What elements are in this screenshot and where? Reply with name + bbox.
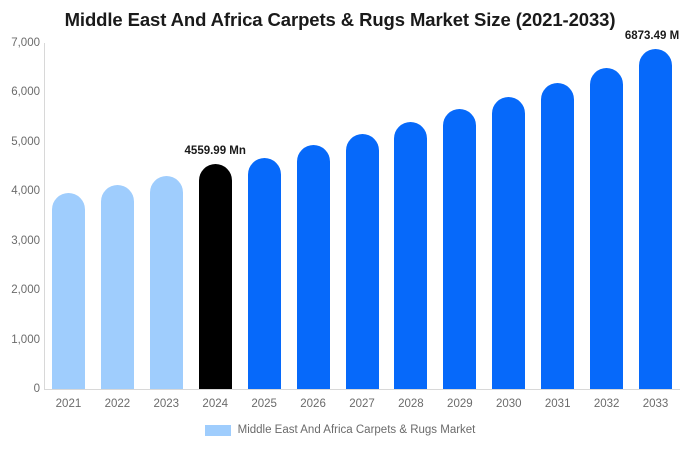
bar-2032[interactable] bbox=[590, 68, 623, 389]
legend-swatch bbox=[205, 425, 231, 436]
bar-2026[interactable] bbox=[297, 145, 330, 389]
y-axis-tick-label: 6,000 bbox=[2, 86, 40, 98]
bar-2027[interactable] bbox=[346, 134, 379, 389]
bar-2029[interactable] bbox=[443, 109, 476, 389]
legend-label: Middle East And Africa Carpets & Rugs Ma… bbox=[238, 424, 476, 436]
data-label-2024: 4559.99 Mn bbox=[185, 145, 246, 157]
y-axis-tick-label: 4,000 bbox=[2, 185, 40, 197]
bar-2021[interactable] bbox=[52, 193, 85, 389]
bar-2030[interactable] bbox=[492, 97, 525, 389]
y-axis: 7,0006,0005,0004,0003,0002,0001,0000 bbox=[0, 0, 40, 450]
chart-legend: Middle East And Africa Carpets & Rugs Ma… bbox=[0, 424, 680, 436]
y-axis-tick-label: 2,000 bbox=[2, 284, 40, 296]
bar-2023[interactable] bbox=[150, 176, 183, 389]
bar-2025[interactable] bbox=[248, 158, 281, 389]
x-axis-line bbox=[44, 389, 680, 390]
y-axis-tick-label: 7,000 bbox=[2, 37, 40, 49]
y-axis-tick-label: 1,000 bbox=[2, 334, 40, 346]
y-axis-tick-label: 3,000 bbox=[2, 235, 40, 247]
y-axis-tick-label: 5,000 bbox=[2, 136, 40, 148]
bar-2031[interactable] bbox=[541, 83, 574, 389]
chart-title: Middle East And Africa Carpets & Rugs Ma… bbox=[0, 9, 680, 31]
bar-2028[interactable] bbox=[394, 122, 427, 389]
chart-container: Middle East And Africa Carpets & Rugs Ma… bbox=[0, 0, 680, 450]
bar-2022[interactable] bbox=[101, 185, 134, 389]
bar-2033[interactable] bbox=[639, 49, 672, 389]
y-axis-tick-label: 0 bbox=[2, 383, 40, 395]
plot-area bbox=[44, 43, 680, 389]
x-axis-tick-label: 2033 bbox=[626, 398, 680, 410]
bar-2024[interactable] bbox=[199, 164, 232, 389]
data-label-2033: 6873.49 Mn bbox=[625, 30, 680, 42]
